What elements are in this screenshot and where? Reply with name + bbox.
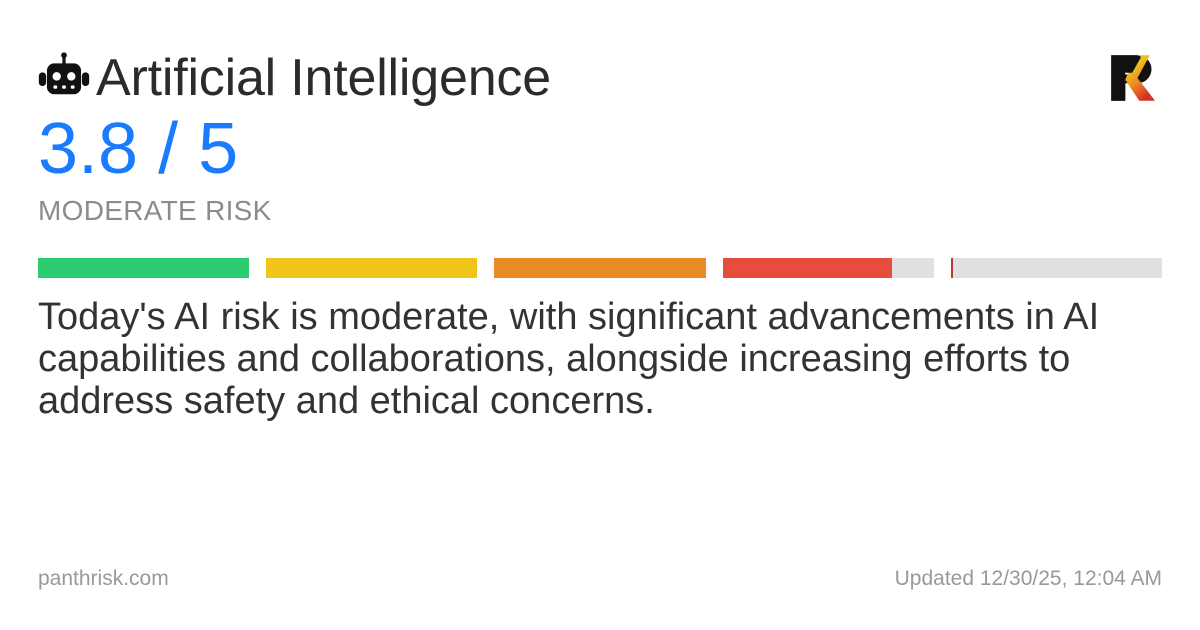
risk-summary-text: Today's AI risk is moderate, with signif… — [38, 296, 1138, 422]
title-group: Artificial Intelligence — [38, 47, 551, 109]
meter-fill-guarded — [266, 258, 477, 278]
meter-segment-high — [723, 258, 934, 278]
meter-fill-high — [723, 258, 892, 278]
risk-level-label: MODERATE RISK — [38, 194, 272, 228]
meter-fill-severe — [951, 258, 953, 278]
header: Artificial Intelligence — [38, 44, 1162, 112]
score-block: 3.8 / 5 MODERATE RISK — [38, 106, 272, 228]
site-name: panthrisk.com — [38, 566, 169, 592]
meter-segment-guarded — [266, 258, 477, 278]
updated-timestamp: Updated 12/30/25, 12:04 AM — [895, 566, 1162, 592]
score-value: 3.8 / 5 — [38, 106, 272, 192]
page-title: Artificial Intelligence — [96, 47, 551, 109]
meter-fill-elevated — [494, 258, 705, 278]
risk-summary-card: Artificial Intelligence 3.8 / 5 — [0, 0, 1200, 630]
meter-segment-low — [38, 258, 249, 278]
risk-meter — [38, 258, 1162, 278]
robot-icon — [38, 52, 90, 104]
meter-segment-severe — [951, 258, 1162, 278]
panthrisk-r-logo[interactable] — [1106, 50, 1162, 106]
footer: panthrisk.com Updated 12/30/25, 12:04 AM — [38, 566, 1162, 592]
meter-segment-elevated — [494, 258, 705, 278]
meter-fill-low — [38, 258, 249, 278]
